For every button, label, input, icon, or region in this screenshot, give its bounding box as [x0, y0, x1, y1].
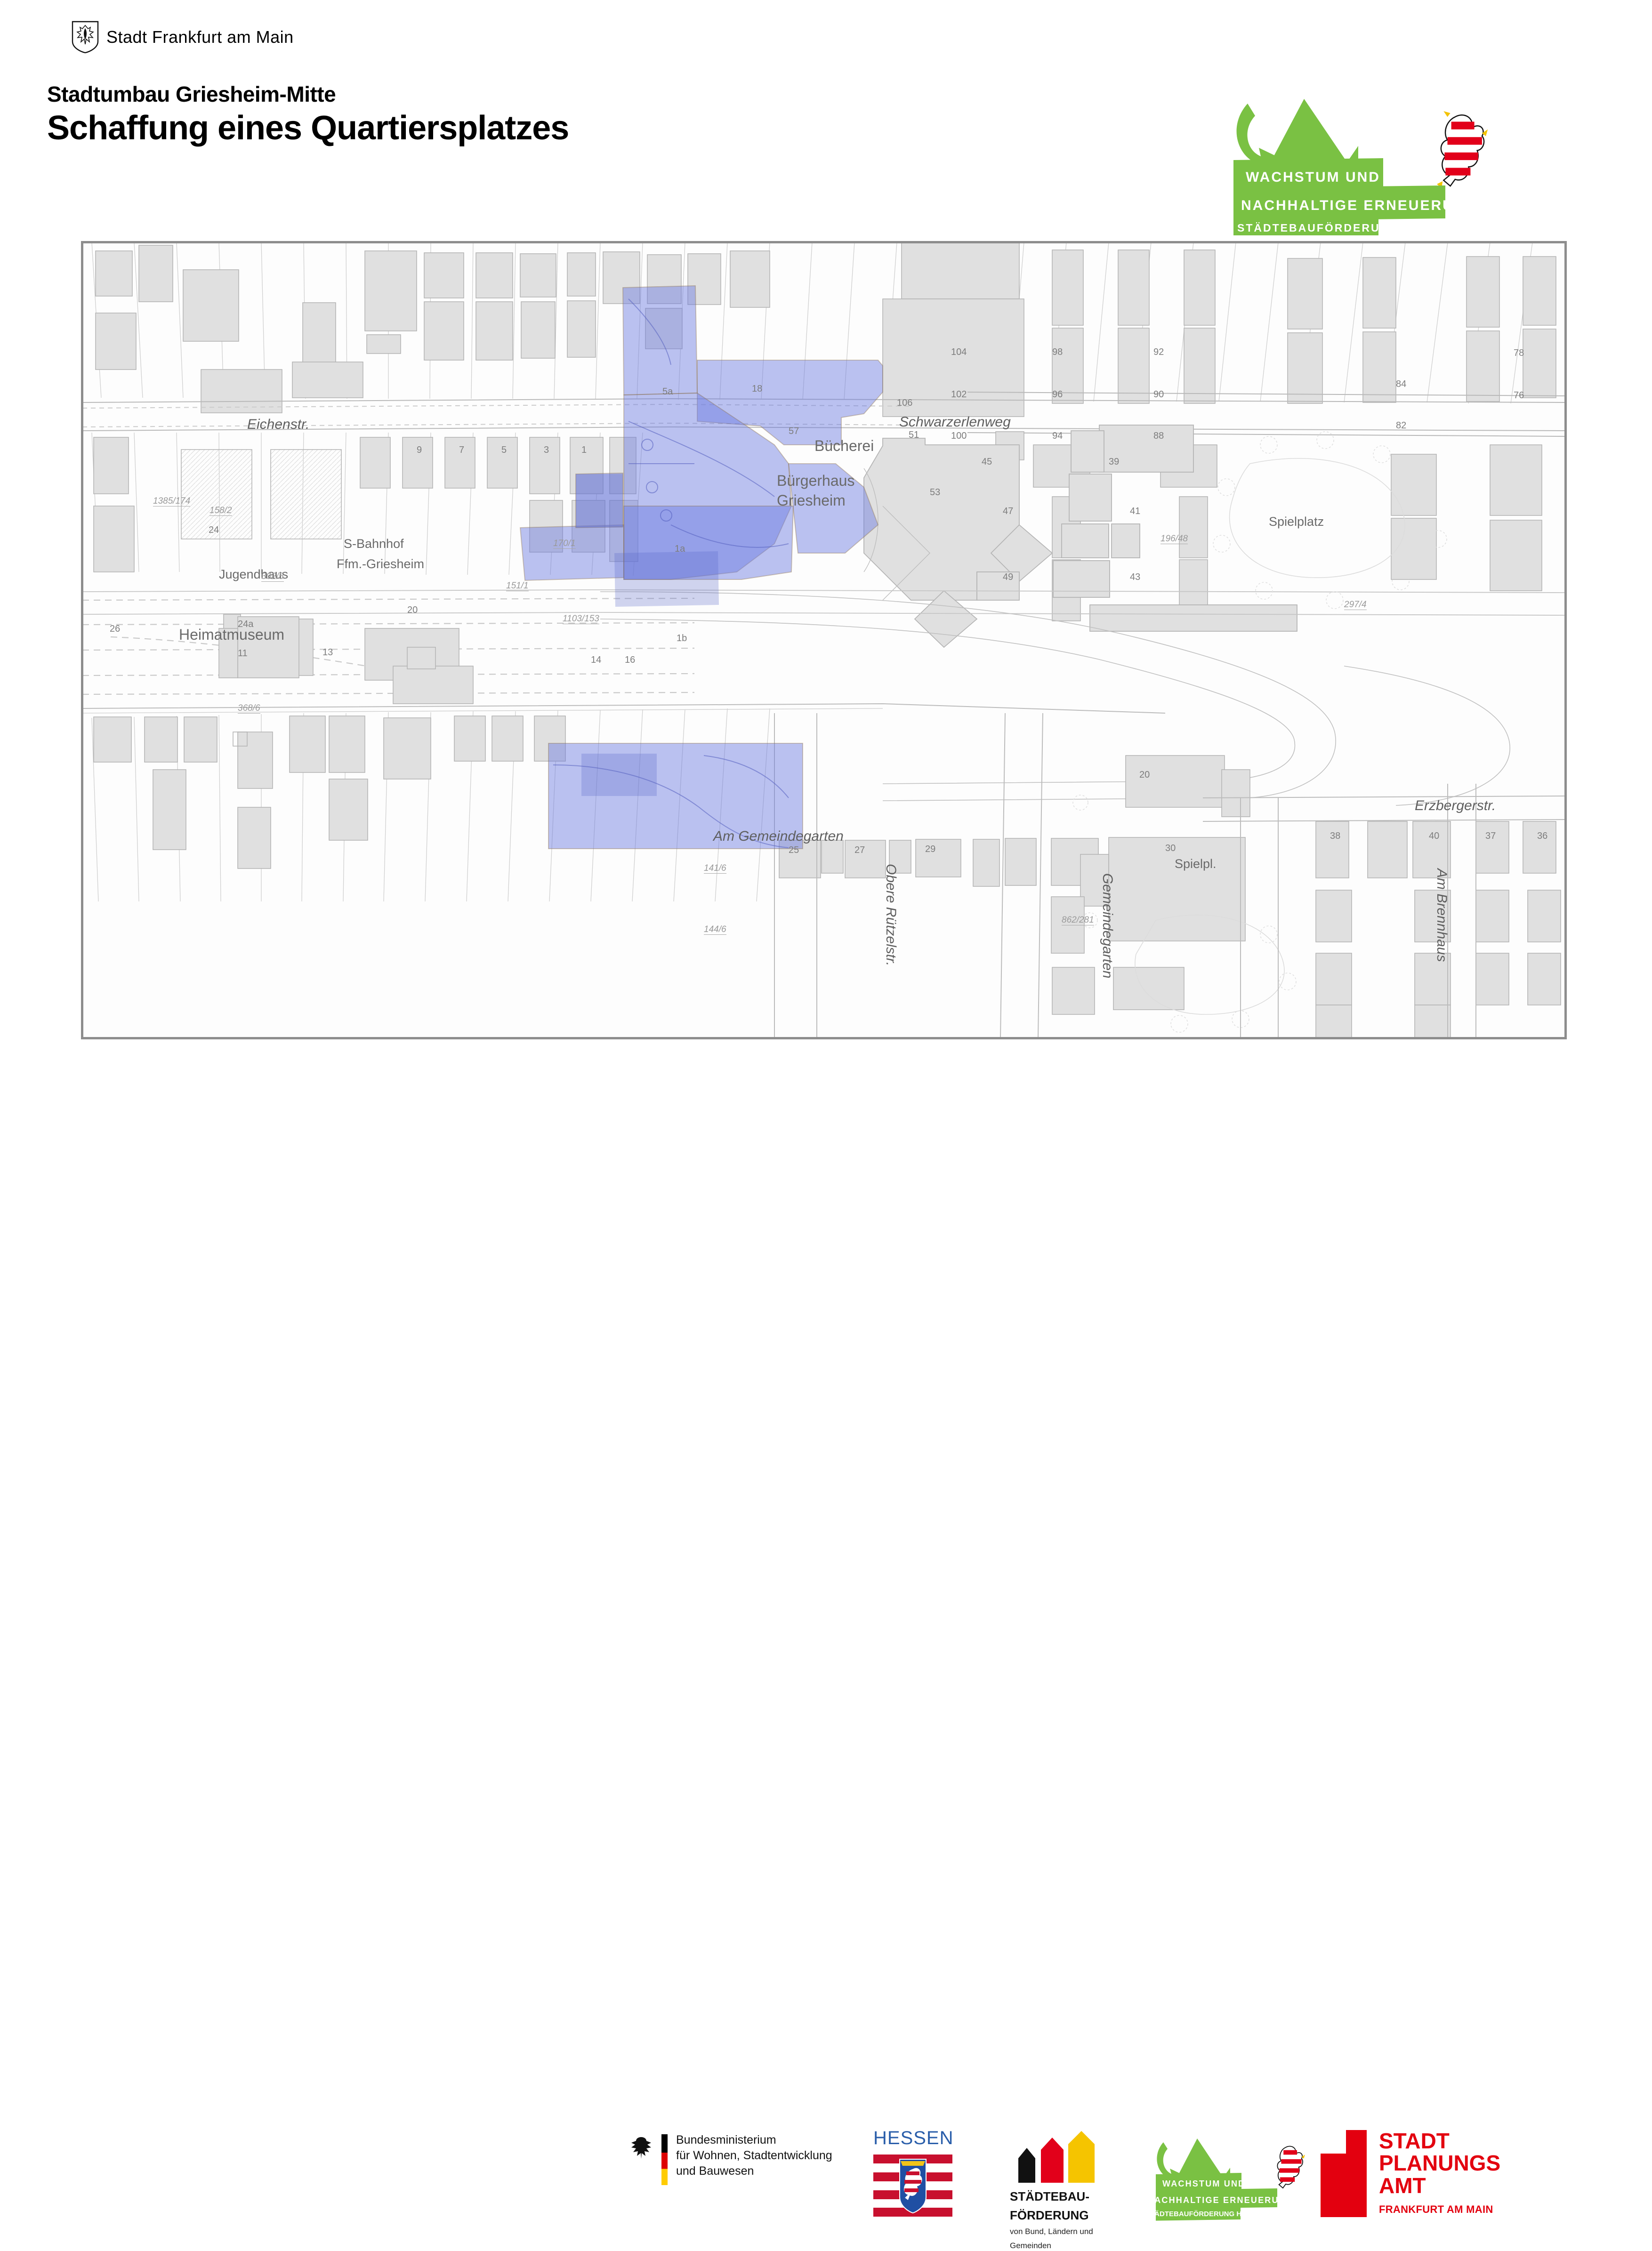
- staedtebau-houses-icon: [1010, 2131, 1104, 2183]
- logo-band-1-text: WACHSTUM UND: [1246, 169, 1380, 185]
- wachstum-erneuerung-logo-small: WACHSTUM UND NACHHALTIGE ERNEUERUNG STÄD…: [1156, 2134, 1344, 2221]
- staedtebau-sub-1: von Bund, Ländern und: [1010, 2227, 1104, 2237]
- city-wordmark: Stadt Frankfurt am Main: [71, 21, 294, 54]
- german-flag-bar-icon: [661, 2134, 668, 2185]
- project-subtitle: Stadtumbau Griesheim-Mitte: [47, 82, 569, 106]
- hessen-lion-icon: [1437, 111, 1488, 188]
- staedtebau-sub-2: Gemeinden: [1010, 2241, 1104, 2251]
- stadtplanungsamt-line2: PLANUNGS: [1379, 2152, 1500, 2174]
- hessen-state-logo: HESSEN: [873, 2128, 954, 2219]
- staedtebau-title-2: FÖRDERUNG: [1010, 2209, 1104, 2223]
- stadtplanungsamt-mark-icon: [1321, 2130, 1367, 2217]
- logo-band-3-text: STÄDTEBAUFÖRDERUNG HESSEN: [1237, 222, 1457, 234]
- bmwsb-line2: für Wohnen, Stadtentwicklung: [676, 2148, 832, 2163]
- city-wordmark-text: Stadt Frankfurt am Main: [106, 27, 294, 47]
- bmwsb-logo: Bundesministerium für Wohnen, Stadtentwi…: [629, 2132, 832, 2185]
- cadastral-map[interactable]: Eichenstr. Schwarzerlenweg Erzbergerstr.…: [81, 241, 1567, 1039]
- map-drawing: [82, 242, 1565, 1038]
- logo-small-band-1-text: WACHSTUM UND: [1162, 2179, 1245, 2188]
- logo-band-2-text: NACHHALTIGE ERNEUERUNG: [1241, 198, 1478, 213]
- hessen-coat-of-arms-icon: [873, 2152, 952, 2217]
- stadtplanungsamt-text: STADT PLANUNGS AMT FRANKFURT AM MAIN: [1379, 2130, 1500, 2216]
- bmwsb-line1: Bundesministerium: [676, 2132, 832, 2148]
- page-title: Schaffung eines Quartiersplatzes: [47, 109, 569, 147]
- hessen-lion-icon-small: [1277, 2146, 1305, 2188]
- title-block: Stadtumbau Griesheim-Mitte Schaffung ein…: [47, 82, 569, 147]
- stadtplanungsamt-sub: FRANKFURT AM MAIN: [1379, 2203, 1500, 2216]
- bmwsb-text: Bundesministerium für Wohnen, Stadtentwi…: [676, 2132, 832, 2179]
- federal-eagle-icon: [629, 2135, 654, 2163]
- stadtplanungsamt-line3: AMT: [1379, 2175, 1500, 2197]
- staedtebau-title-1: STÄDTEBAU-: [1010, 2190, 1104, 2204]
- stadtplanungsamt-line1: STADT: [1379, 2130, 1500, 2152]
- footer-logos: Bundesministerium für Wohnen, Stadtentwi…: [0, 1061, 1652, 1160]
- hessen-wordmark: HESSEN: [873, 2128, 954, 2149]
- stadtplanungsamt-logo: STADT PLANUNGS AMT FRANKFURT AM MAIN: [1321, 2130, 1500, 2217]
- frankfurt-eagle-crest-icon: [71, 21, 100, 54]
- logo-small-band-2-text: NACHHALTIGE ERNEUERUNG: [1156, 2195, 1294, 2205]
- bmwsb-line3: und Bauwesen: [676, 2163, 832, 2179]
- wachstum-und-nachhaltige-erneuerung-logo: WACHSTUM UND NACHHALTIGE ERNEUERUNG STÄD…: [1233, 89, 1572, 235]
- logo-small-band-3-text: STÄDTEBAUFÖRDERUNG HESSEN: [1156, 2210, 1265, 2218]
- staedtebaufoerderung-logo: STÄDTEBAU- FÖRDERUNG von Bund, Ländern u…: [1010, 2131, 1104, 2251]
